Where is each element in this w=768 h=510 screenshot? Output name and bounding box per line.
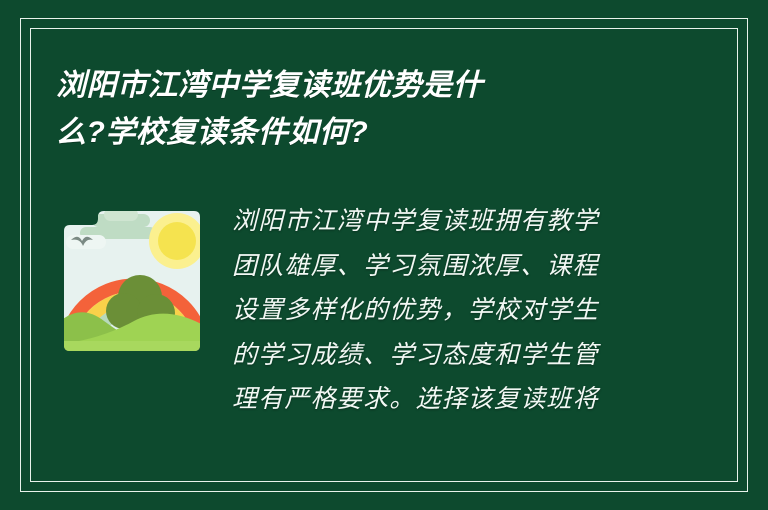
content-row: 浏阳市江湾中学复读班拥有教学 团队雄厚、学习氛围浓厚、课程 设置多样化的优势，学… (0, 200, 768, 460)
page-title: 浏阳市江湾中学复读班优势是什 么?学校复读条件如何? (56, 62, 656, 156)
sun-icon (149, 213, 205, 269)
rainbow-landscape-illustration (58, 205, 210, 357)
ground-strip (58, 341, 210, 351)
poster-canvas: 浏阳市江湾中学复读班优势是什 么?学校复读条件如何? (0, 0, 768, 510)
body-paragraph: 浏阳市江湾中学复读班拥有教学 团队雄厚、学习氛围浓厚、课程 设置多样化的优势，学… (232, 200, 682, 423)
